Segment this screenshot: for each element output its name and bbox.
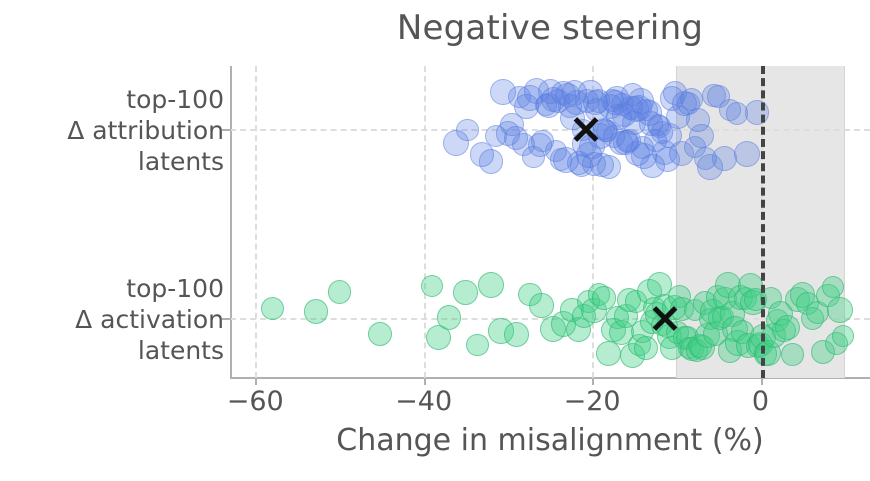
- chart-title: Negative steering: [230, 8, 870, 48]
- x-tick-label: −60: [215, 386, 295, 417]
- data-point: [304, 299, 329, 324]
- x-axis-label: Change in misalignment (%): [230, 423, 870, 458]
- data-point: [827, 297, 853, 323]
- y-tick-label-activation: top-100 Δ activation latents: [0, 273, 224, 366]
- y-label-activation-line1: top-100: [0, 273, 224, 304]
- x-axis-tick: [761, 379, 763, 385]
- data-point: [368, 322, 392, 346]
- y-label-activation-line3: latents: [0, 335, 224, 366]
- data-point: [745, 100, 770, 125]
- data-point: [634, 336, 658, 360]
- data-point: [596, 341, 621, 366]
- data-point: [328, 280, 351, 303]
- data-point: [421, 275, 443, 297]
- data-point: [478, 272, 504, 298]
- x-axis-tick: [592, 379, 594, 385]
- data-point: [529, 293, 553, 317]
- x-tick-label: −40: [384, 386, 464, 417]
- data-point: [781, 343, 803, 365]
- y-label-activation-line2: Δ activation: [0, 304, 224, 335]
- plot-area: [230, 66, 870, 378]
- data-point: [822, 276, 844, 298]
- data-point: [832, 325, 855, 348]
- zero-reference-line: [761, 66, 765, 378]
- data-point: [479, 149, 504, 174]
- y-tick-label-attribution: top-100 Δ attribution latents: [0, 84, 224, 177]
- data-point: [261, 297, 284, 320]
- data-point: [456, 119, 478, 141]
- vertical-gridline: [255, 66, 257, 378]
- data-point: [466, 334, 488, 356]
- data-point: [437, 305, 462, 330]
- y-label-attribution-line3: latents: [0, 146, 224, 177]
- x-axis-tick: [424, 379, 426, 385]
- data-point: [712, 146, 737, 171]
- x-tick-label: 0: [721, 386, 801, 417]
- data-point: [689, 124, 713, 148]
- y-label-attribution-line2: Δ attribution: [0, 115, 224, 146]
- data-point: [597, 155, 621, 179]
- y-label-attribution-line1: top-100: [0, 84, 224, 115]
- data-point: [504, 322, 529, 347]
- vertical-gridline: [424, 66, 426, 378]
- x-tick-label: −20: [552, 386, 632, 417]
- data-point: [453, 280, 478, 305]
- x-axis-tick: [255, 379, 257, 385]
- horizontal-gridline: [230, 129, 870, 131]
- chart-figure: Negative steering −60−40−200 Change in m…: [0, 0, 870, 481]
